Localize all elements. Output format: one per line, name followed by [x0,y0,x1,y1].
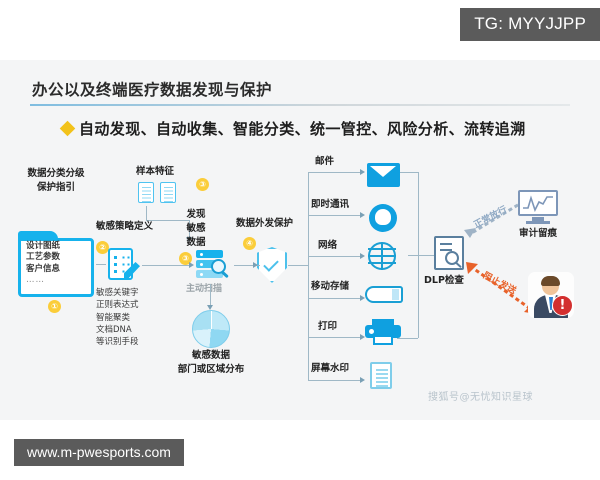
channel-line-4 [308,337,362,338]
channel-line-5 [308,380,362,381]
discover-title-line3: 数据 [176,237,216,249]
subtitle-text: 自动发现、自动收集、智能分类、统一管控、风险分析、流转追溯 [79,118,526,139]
channel-label-0: 邮件 [315,156,334,168]
sample-doc-icon-1 [138,182,154,203]
outbound-heading: 数据外发保护 [236,218,293,230]
dlp-magnifier [445,251,459,265]
policy-heading: 敏感策略定义 [96,221,153,233]
connector-shield-to-trunk [288,265,308,266]
channel-label-5: 屏幕水印 [311,363,349,375]
outbound-shield-icon [257,247,287,283]
alert-exclamation-icon: ! [552,295,573,316]
dlp-inspection-icon [434,236,464,270]
monitor-waveform [522,194,554,212]
instant-message-icon [369,204,397,232]
folder-item-1: 工艺参数 [26,252,60,263]
server-bar-1 [196,250,223,258]
url-watermark-badge: www.m-pwesports.com [14,439,184,466]
scan-magnifier [211,259,226,274]
mail-icon [367,163,400,187]
subtitle-bullet-row: 自动发现、自动收集、智能分类、统一管控、风险分析、流转追溯 [62,118,526,139]
channel-trunk-line [308,172,309,380]
telegram-watermark-badge: TG: MYYJJPP [460,8,600,41]
title-divider [30,104,570,106]
collector-top-line [400,172,418,173]
channel-label-1: 即时通讯 [311,199,349,211]
dlp-label: DLP检查 [424,275,464,287]
user-hair [541,276,560,286]
page-title: 办公以及终端医疗数据发现与保护 [32,78,272,100]
connector-discover-to-pie [210,284,211,306]
step-badge-1: ① [48,300,61,313]
arrow-policy-to-discover [189,262,194,268]
collector-bottom-line [397,338,418,339]
connector-sample-down [146,206,147,220]
sample-doc-icon-2 [160,182,176,203]
folder-ellipsis: …… [26,275,60,286]
user-alert-icon: ! [528,272,574,318]
channel-arrow-2 [360,253,365,259]
channel-line-1 [308,215,362,216]
active-scan-label: 主动扫描 [186,281,222,294]
policy-method-3: 文档DNA [96,324,139,336]
sensitive-distribution-pie-chart [192,310,230,348]
sample-feature-heading: 样本特征 [136,166,174,178]
step-badge-4: ④ [243,237,256,250]
audit-label: 审计留痕 [506,228,570,240]
guide-title-line2: 保护指引 [8,182,104,194]
folder-item-0: 设计图纸 [26,241,60,252]
sohu-watermark: 搜狐号@无忧知识星球 [428,388,533,403]
channel-arrow-1 [360,212,365,218]
distribution-label-line1: 敏感数据 [161,350,261,362]
channel-arrow-0 [360,169,365,175]
channel-arrow-5 [360,377,365,383]
printer-icon [365,319,401,345]
discover-title-line2: 敏感 [176,223,216,235]
watermark-document-icon [370,362,392,389]
printer-output-tray [373,335,393,345]
policy-method-0: 敏感关键字 [96,287,139,299]
monitor-chart-icon [518,190,558,223]
usb-drive-icon [365,286,403,303]
connector-policy-to-discover [142,265,190,266]
guide-title-line1: 数据分类分级 [8,168,104,180]
collector-to-dlp-line [408,255,434,256]
discover-title-line1: 发现 [176,209,216,221]
step-badge-3a: ③ [196,178,209,191]
channel-line-3 [308,298,362,299]
policy-clipboard-pencil-icon [108,248,140,282]
channel-label-4: 打印 [318,321,337,333]
channel-line-2 [308,256,362,257]
policy-method-list: 敏感关键字 正则表达式 智能聚类 文档DNA 等识别手段 [96,287,139,349]
channel-label-3: 移动存储 [311,281,349,293]
monitor-base [526,221,550,224]
policy-method-1: 正则表达式 [96,299,139,311]
connector-folder-to-policy [96,264,106,265]
diamond-bullet-icon [60,121,76,137]
scan-server-icon [196,250,232,282]
folder-content-list: 设计图纸 工艺参数 客户信息 …… [26,241,60,287]
policy-method-2: 智能聚类 [96,312,139,324]
arrow-discover-to-shield [253,262,258,268]
screenshot-root: TG: MYYJJPP 办公以及终端医疗数据发现与保护 自动发现、自动收集、智能… [0,0,600,480]
folder-item-2: 客户信息 [26,264,60,275]
channel-line-0 [308,172,362,173]
distribution-label-line2: 部门或区域分布 [151,364,271,376]
policy-method-4: 等识别手段 [96,336,139,348]
slide-canvas: 办公以及终端医疗数据发现与保护 自动发现、自动收集、智能分类、统一管控、风险分析… [0,60,600,420]
globe-icon [368,242,396,270]
channel-label-2: 网络 [318,240,337,252]
